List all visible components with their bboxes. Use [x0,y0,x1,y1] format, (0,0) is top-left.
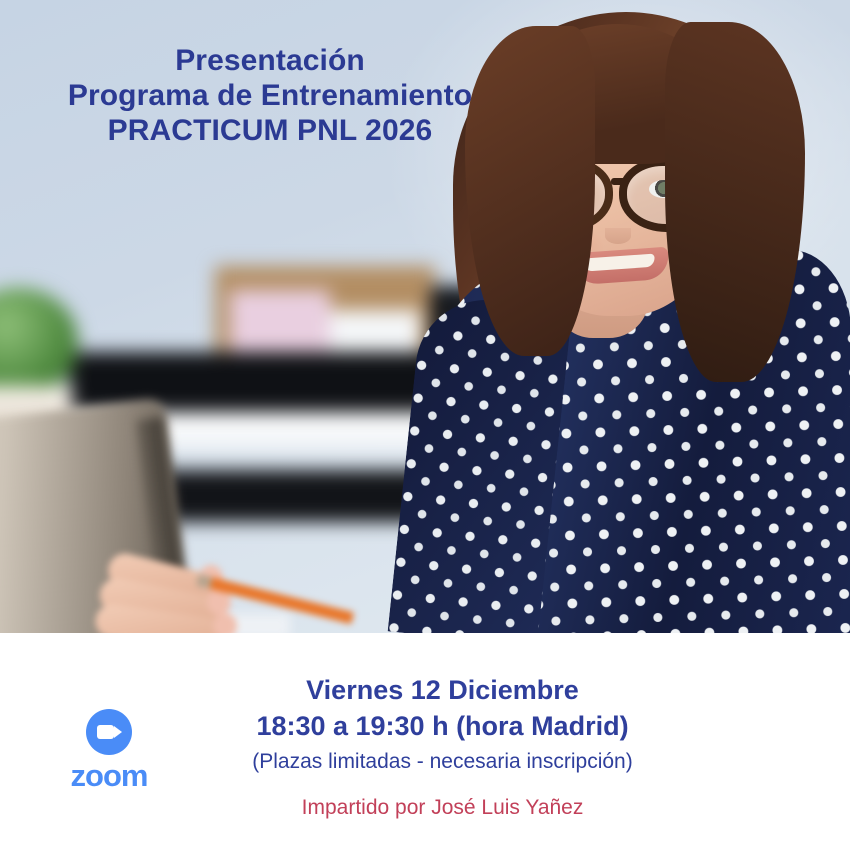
headline-line-1: Presentación [0,44,540,79]
fingernail [213,613,237,633]
event-note: (Plazas limitadas - necesaria inscripció… [170,746,715,778]
event-details: Viernes 12 Diciembre 18:30 a 19:30 h (ho… [170,673,715,823]
glasses-bridge [611,178,627,185]
event-date: Viernes 12 Diciembre [170,673,715,709]
headline-line-2: Programa de Entrenamiento [0,79,540,114]
zoom-video-camera-icon [86,709,132,755]
teeth [582,254,655,272]
headline-line-3: PRACTICUM PNL 2026 [0,114,540,149]
event-time: 18:30 a 19:30 h (hora Madrid) [170,709,715,745]
camera-body [97,725,114,739]
hand-holding-pencil [95,545,275,633]
zoom-wordmark: zoom [66,760,152,791]
camera-lens [114,726,122,738]
event-speaker: Impartido por José Luis Yañez [170,792,715,824]
zoom-logo[interactable]: zoom [66,709,152,795]
plant-icon [0,288,78,396]
poster-footer: zoom Viernes 12 Diciembre 18:30 a 19:30 … [0,633,850,850]
page-title: Presentación Programa de Entrenamiento P… [0,44,540,148]
hero-photo: Presentación Programa de Entrenamiento P… [0,0,850,633]
event-poster: Presentación Programa de Entrenamiento P… [0,0,850,850]
